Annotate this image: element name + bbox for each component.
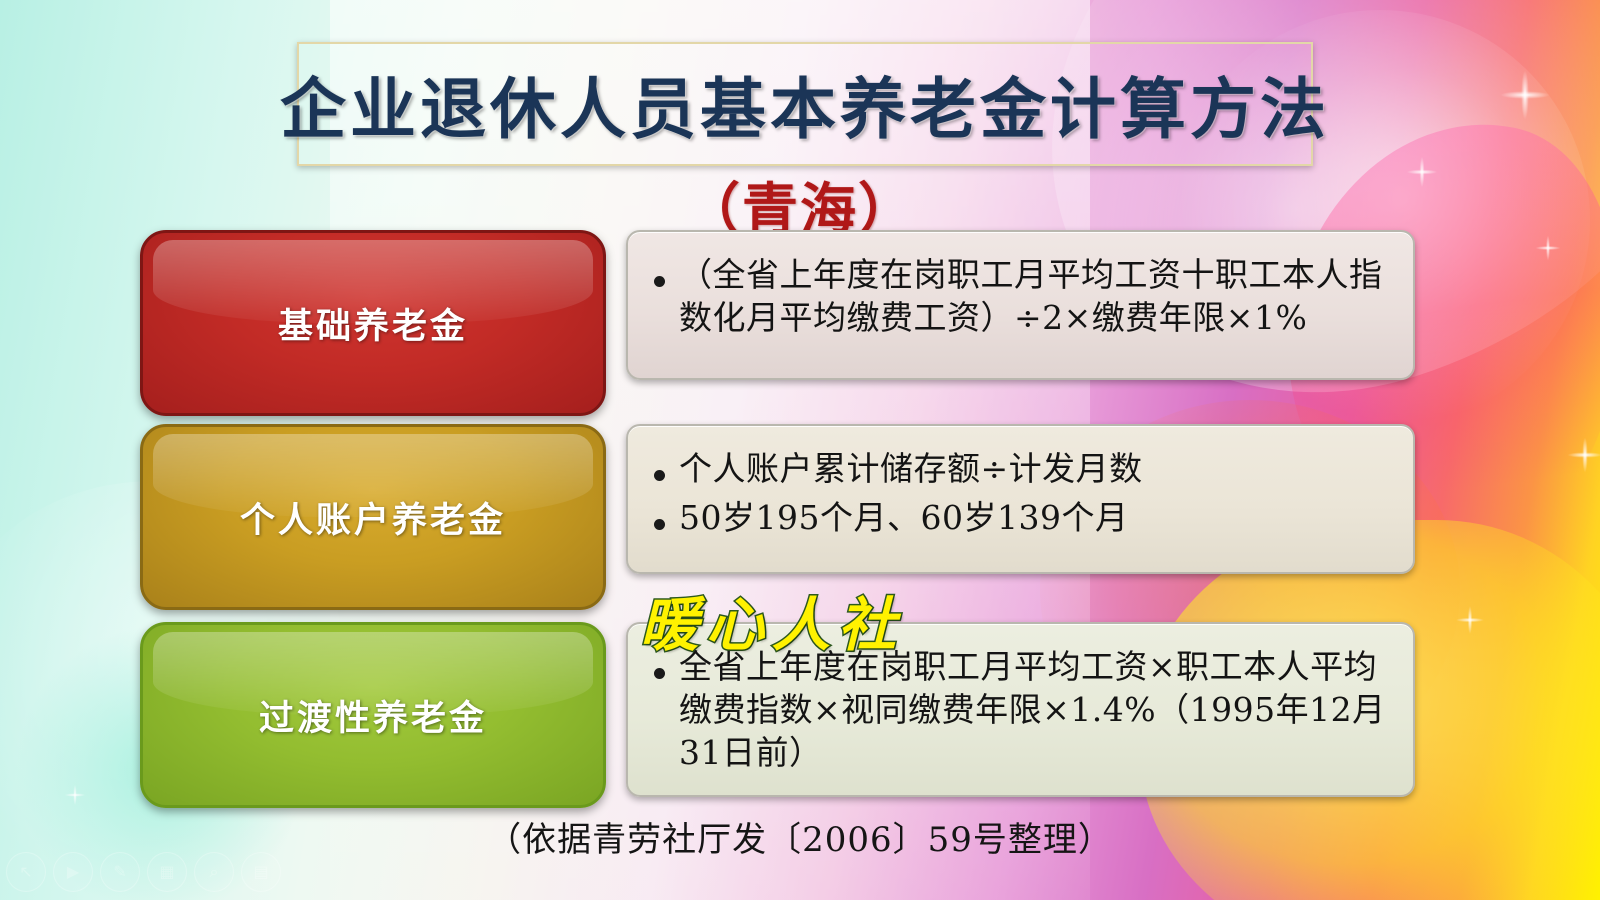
formula-panel-personal-account-pension: 个人账户累计储存额÷计发月数 50岁195个月、60岁139个月 <box>626 424 1415 574</box>
footer-source-note: （依据青劳社厅发〔2006〕59号整理） <box>487 820 1113 860</box>
category-label-transitional-pension[interactable]: 过渡性养老金 <box>140 622 606 808</box>
bullet-item: （全省上年度在岗职工月平均工资十职工本人指数化月平均缴费工资）÷2×缴费年限×1… <box>654 254 1387 340</box>
page-title: 企业退休人员基本养老金计算方法 <box>280 56 1330 152</box>
category-label-personal-account-pension[interactable]: 个人账户养老金 <box>140 424 606 610</box>
title-banner: 企业退休人员基本养老金计算方法 <box>297 42 1313 166</box>
presentation-slide: 企业退休人员基本养老金计算方法 （青海） 基础养老金 （全省上年度在岗职工月平均… <box>0 0 1600 900</box>
play-icon[interactable]: ▶ <box>53 852 93 892</box>
bullet-dot-icon <box>654 276 665 287</box>
bullet-item: 50岁195个月、60岁139个月 <box>654 497 1387 540</box>
bullet-text: 50岁195个月、60岁139个月 <box>679 497 1128 540</box>
bullet-text: 个人账户累计储存额÷计发月数 <box>679 448 1143 491</box>
bullet-dot-icon <box>654 519 665 530</box>
bullet-item: 全省上年度在岗职工月平均工资×职工本人平均缴费指数×视同缴费年限×1.4%（19… <box>654 646 1387 775</box>
formula-panel-basic-pension: （全省上年度在岗职工月平均工资十职工本人指数化月平均缴费工资）÷2×缴费年限×1… <box>626 230 1415 380</box>
bullet-dot-icon <box>654 470 665 481</box>
bullet-text: 全省上年度在岗职工月平均工资×职工本人平均缴费指数×视同缴费年限×1.4%（19… <box>679 646 1387 775</box>
category-label-text: 过渡性养老金 <box>259 690 487 741</box>
pointer-icon[interactable]: ↖ <box>6 852 46 892</box>
bullet-dot-icon <box>654 668 665 679</box>
menu-icon[interactable]: ▤ <box>241 852 281 892</box>
category-label-text: 个人账户养老金 <box>240 492 506 543</box>
grid-icon[interactable]: ▦ <box>147 852 187 892</box>
zoom-icon[interactable]: ⌕ <box>194 852 234 892</box>
bullet-text: （全省上年度在岗职工月平均工资十职工本人指数化月平均缴费工资）÷2×缴费年限×1… <box>679 254 1387 340</box>
watermark: 暖心人社 <box>640 578 904 662</box>
category-label-basic-pension[interactable]: 基础养老金 <box>140 230 606 416</box>
slideshow-toolbar[interactable]: ↖ ▶ ✎ ▦ ⌕ ▤ <box>6 852 281 892</box>
pension-row: 基础养老金 （全省上年度在岗职工月平均工资十职工本人指数化月平均缴费工资）÷2×… <box>140 230 1415 416</box>
pen-icon[interactable]: ✎ <box>100 852 140 892</box>
bullet-item: 个人账户累计储存额÷计发月数 <box>654 448 1387 491</box>
category-label-text: 基础养老金 <box>278 298 468 349</box>
